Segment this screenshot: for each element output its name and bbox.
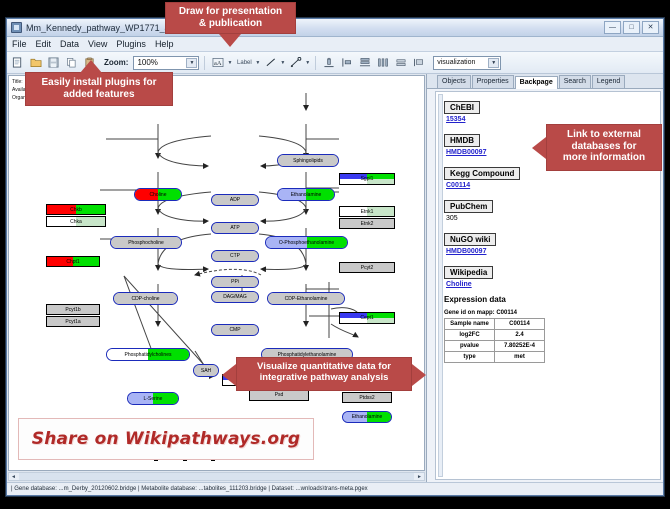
chevron-down-icon[interactable]: ▼ — [186, 58, 197, 68]
callout-link-line2: databases for — [571, 141, 636, 152]
callout-link-line3: more information — [563, 152, 645, 163]
node-label: Choline — [150, 192, 167, 198]
metabolite-node-ctp[interactable]: CTP — [211, 250, 259, 262]
node-label: Etnk1 — [361, 209, 374, 215]
gene-node-pcyt1a[interactable]: Pcyt1a — [46, 316, 100, 327]
node-label: Ethanolamine — [291, 192, 322, 198]
node-label: CTP — [230, 253, 240, 259]
scroll-left-arrow-icon[interactable]: ◄ — [9, 474, 18, 480]
callout-link-arrow-left-icon — [532, 137, 546, 159]
expression-row: pvalue7.80252E-4 — [445, 341, 545, 352]
expression-key: log2FC — [445, 330, 495, 341]
menubar: File Edit Data View Plugins Help — [7, 37, 663, 52]
expression-data-title: Expression data — [444, 295, 660, 304]
db-value-pubchem: 305 — [446, 215, 660, 222]
metabolite-node-phosphocholine[interactable]: Phosphocholine — [110, 236, 182, 249]
gene-node-pcyt2[interactable]: Pcyt2 — [339, 262, 395, 273]
save-disk-icon[interactable] — [46, 55, 61, 70]
node-label: CDP-Ethanolamine — [285, 296, 328, 302]
callout-viz-arrow-left-icon — [222, 364, 236, 386]
scroll-thumb[interactable] — [19, 473, 414, 480]
metabolite-node-cdp-ethanolamine[interactable]: CDP-Ethanolamine — [267, 292, 345, 305]
line-dropdown-caret-icon[interactable]: ▼ — [280, 60, 285, 66]
node-label: Pcyt1b — [65, 307, 80, 313]
metabolite-node-choline-top[interactable]: Choline — [134, 188, 182, 201]
tab-backpage[interactable]: Backpage — [515, 76, 558, 89]
maximize-button[interactable]: □ — [623, 21, 640, 34]
db-link-nugo-wiki[interactable]: HMDB00097 — [446, 248, 660, 255]
align-left-icon[interactable] — [339, 55, 354, 70]
metabolite-node-adp[interactable]: ADP — [211, 194, 259, 206]
minimize-button[interactable]: — — [604, 21, 621, 34]
label-dropdown-caret-icon[interactable]: ▼ — [255, 60, 260, 66]
expression-row: Sample nameC00114 — [445, 319, 545, 330]
window-titlebar: Mm_Kennedy_pathway_WP1771_45176.gpml — □… — [7, 19, 663, 37]
node-label: Chpt1 — [66, 259, 79, 265]
application-icon — [11, 22, 22, 33]
node-label: SAH — [201, 368, 211, 374]
pathway-drawing[interactable]: Title: Availa Organ — [9, 76, 424, 470]
font-dropdown-caret-icon[interactable]: ▼ — [227, 60, 232, 66]
db-header-nugo-wiki: NuGO wiki — [444, 233, 496, 246]
pathway-canvas[interactable]: Title: Availa Organ — [8, 75, 425, 471]
node-label: Sphingolipids — [293, 158, 323, 164]
statusbar-text: | Gene database: ...m_Derby_20120602.bri… — [11, 486, 368, 492]
svg-text:aA: aA — [214, 60, 222, 67]
zoom-label: Zoom: — [104, 58, 128, 67]
gene-node-pcyt1b[interactable]: Pcyt1b — [46, 304, 100, 315]
callout-draw-for-presentation: Draw for presentation & publication — [165, 2, 296, 34]
callout-draw-line2: & publication — [199, 18, 262, 29]
toolbar: Zoom: 100% ▼ aA ▼ Label ▼ ▼ ▼ — [7, 52, 663, 74]
side-panel-scrollbar[interactable] — [438, 94, 443, 477]
metabolite-node-atp[interactable]: ATP — [211, 222, 259, 234]
gene-node-cept1[interactable]: Cept1 — [339, 312, 395, 324]
metabolite-node-sphingolipids[interactable]: Sphingolipids — [277, 154, 339, 167]
node-label: Ptdss2 — [359, 395, 374, 401]
menu-file[interactable]: File — [12, 39, 27, 49]
stack-vertical-icon[interactable] — [357, 55, 372, 70]
expression-row: log2FC2.4 — [445, 330, 545, 341]
copy-icon[interactable] — [64, 55, 79, 70]
metabolite-node-cdp-choline[interactable]: CDP-choline — [113, 292, 178, 305]
open-folder-icon[interactable] — [28, 55, 43, 70]
node-label: Phosphocholine — [128, 240, 164, 246]
tab-search[interactable]: Search — [559, 75, 591, 88]
callout-easily-install-plugins: Easily install plugins for added feature… — [25, 72, 173, 106]
toolbar-separator — [204, 56, 205, 70]
node-label: Pcyt2 — [361, 265, 374, 271]
callout-draw-line1: Draw for presentation — [179, 6, 282, 17]
gene-node-chkb[interactable]: Chkb — [46, 204, 106, 215]
node-label: Cept1 — [360, 315, 373, 321]
node-label: Ethanolamine — [352, 414, 383, 420]
distribute-icon[interactable] — [375, 55, 390, 70]
statusbar: | Gene database: ...m_Derby_20120602.bri… — [7, 482, 663, 495]
db-header-chebi: ChEBI — [444, 101, 480, 114]
close-button[interactable]: ✕ — [642, 21, 659, 34]
visualization-combobox[interactable]: visualization ▼ — [433, 56, 501, 70]
db-link-kegg-compound[interactable]: C00114 — [446, 182, 660, 189]
font-icon[interactable]: aA — [210, 55, 225, 70]
node-label: Psd — [275, 392, 284, 398]
gene-node-sgpl1[interactable]: Sgpl1 — [339, 173, 395, 185]
metabolite-node-cmp[interactable]: CMP — [211, 324, 259, 336]
node-label: DAG/MAG — [223, 294, 247, 300]
expression-row: typemet — [445, 352, 545, 363]
menu-help[interactable]: Help — [155, 39, 174, 49]
interaction-dropdown-caret-icon[interactable]: ▼ — [305, 60, 310, 66]
expression-key: pvalue — [445, 341, 495, 352]
menu-edit[interactable]: Edit — [36, 39, 52, 49]
callout-viz-arrow-right-icon — [412, 364, 426, 386]
common-height-icon[interactable] — [411, 55, 426, 70]
metabolite-node-l-serine-left[interactable]: L-Serine — [127, 392, 179, 405]
expression-value: 7.80252E-4 — [495, 341, 545, 352]
interaction-icon[interactable] — [288, 55, 303, 70]
side-panel-tabs: Objects Properties Backpage Search Legen… — [427, 74, 663, 89]
canvas-horizontal-scrollbar[interactable]: ◄ ► — [8, 472, 425, 481]
callout-viz-line1: Visualize quantitative data for — [257, 361, 391, 372]
metabolite-node-sah[interactable]: SAH — [193, 364, 219, 377]
callout-visualize-quantitative-data: Visualize quantitative data for integrat… — [236, 357, 412, 391]
gene-node-chpt1[interactable]: Chpt1 — [46, 256, 100, 267]
tab-properties[interactable]: Properties — [472, 75, 514, 88]
expression-key: type — [445, 352, 495, 363]
menu-view[interactable]: View — [88, 39, 107, 49]
node-label: PPi — [231, 279, 239, 285]
callout-plugins-line1: Easily install plugins for — [41, 77, 156, 88]
window-controls: — □ ✕ — [604, 21, 659, 34]
node-label: Etnk2 — [361, 221, 374, 227]
node-label: L-Serine — [144, 396, 163, 402]
node-label: O-Phosphoethanolamine — [279, 240, 334, 246]
metabolite-node-ethanolamine-top[interactable]: Ethanolamine — [277, 188, 335, 201]
expression-value: 2.4 — [495, 330, 545, 341]
new-document-icon[interactable] — [10, 55, 25, 70]
db-link-chebi[interactable]: 15354 — [446, 116, 660, 123]
scroll-right-arrow-icon[interactable]: ► — [415, 474, 424, 480]
node-label: Pcyt1a — [65, 319, 80, 325]
metabolite-node-o-phosphoethanolamine[interactable]: O-Phosphoethanolamine — [265, 236, 348, 249]
db-header-kegg-compound: Kegg Compound — [444, 167, 520, 180]
callout-viz-line2: integrative pathway analysis — [260, 372, 389, 383]
menu-plugins[interactable]: Plugins — [116, 39, 146, 49]
tab-legend[interactable]: Legend — [592, 75, 625, 88]
callout-link-line1: Link to external — [567, 129, 641, 140]
node-label: ADP — [230, 197, 240, 203]
share-on-wikipathways-banner: Share on Wikipathways.org — [18, 418, 314, 460]
db-link-wikipedia[interactable]: Choline — [446, 281, 660, 288]
node-label: Chkb — [70, 207, 82, 213]
zoom-value: 100% — [137, 58, 157, 67]
metabolite-node-ethanolamine-right[interactable]: Ethanolamine — [342, 411, 392, 423]
label-tool-button[interactable]: Label — [235, 55, 253, 70]
gene-node-chka[interactable]: Chka — [46, 216, 106, 227]
callout-draw-arrow-down-icon — [219, 34, 241, 47]
node-label: CMP — [229, 327, 240, 333]
menu-data[interactable]: Data — [60, 39, 79, 49]
db-header-pubchem: PubChem — [444, 200, 493, 213]
align-top-icon[interactable] — [321, 55, 336, 70]
callout-plugins-line2: added features — [63, 89, 134, 100]
node-label: Chka — [70, 219, 82, 225]
line-icon[interactable] — [263, 55, 278, 70]
node-label: Sgpl1 — [361, 176, 374, 182]
visualization-value: visualization — [437, 59, 475, 66]
expression-key: Sample name — [445, 319, 495, 330]
metabolite-node-ppi[interactable]: PPi — [211, 276, 259, 288]
chevron-down-icon-visualization[interactable]: ▼ — [488, 58, 499, 68]
callout-plugins-arrow-up-icon — [80, 60, 102, 73]
zoom-combobox[interactable]: 100% ▼ — [133, 56, 199, 70]
node-label: ATP — [230, 225, 239, 231]
expression-value: met — [495, 352, 545, 363]
gene-node-etnk2[interactable]: Etnk2 — [339, 218, 395, 229]
metabolite-node-dagmag[interactable]: DAG/MAG — [211, 291, 259, 303]
node-label: Phosphatidylcholines — [125, 352, 172, 358]
expression-data-table: Sample nameC00114log2FC2.4pvalue7.80252E… — [444, 318, 545, 363]
share-text: Share on Wikipathways.org — [32, 429, 300, 449]
metabolite-node-phosphatidylcholines[interactable]: Phosphatidylcholines — [106, 348, 190, 361]
gene-node-etnk1[interactable]: Etnk1 — [339, 206, 395, 217]
db-header-wikipedia: Wikipedia — [444, 266, 493, 279]
gene-id-on-mapp: Gene id on mapp: C00114 — [444, 310, 660, 316]
gene-node-ptdss2[interactable]: Ptdss2 — [342, 392, 392, 403]
common-width-icon[interactable] — [393, 55, 408, 70]
expression-value: C00114 — [495, 319, 545, 330]
callout-link-to-external-databases: Link to external databases for more info… — [546, 124, 662, 171]
tab-objects[interactable]: Objects — [437, 75, 471, 88]
toolbar-separator-2 — [315, 56, 316, 70]
db-header-hmdb: HMDB — [444, 134, 480, 147]
node-label: CDP-choline — [131, 296, 159, 302]
